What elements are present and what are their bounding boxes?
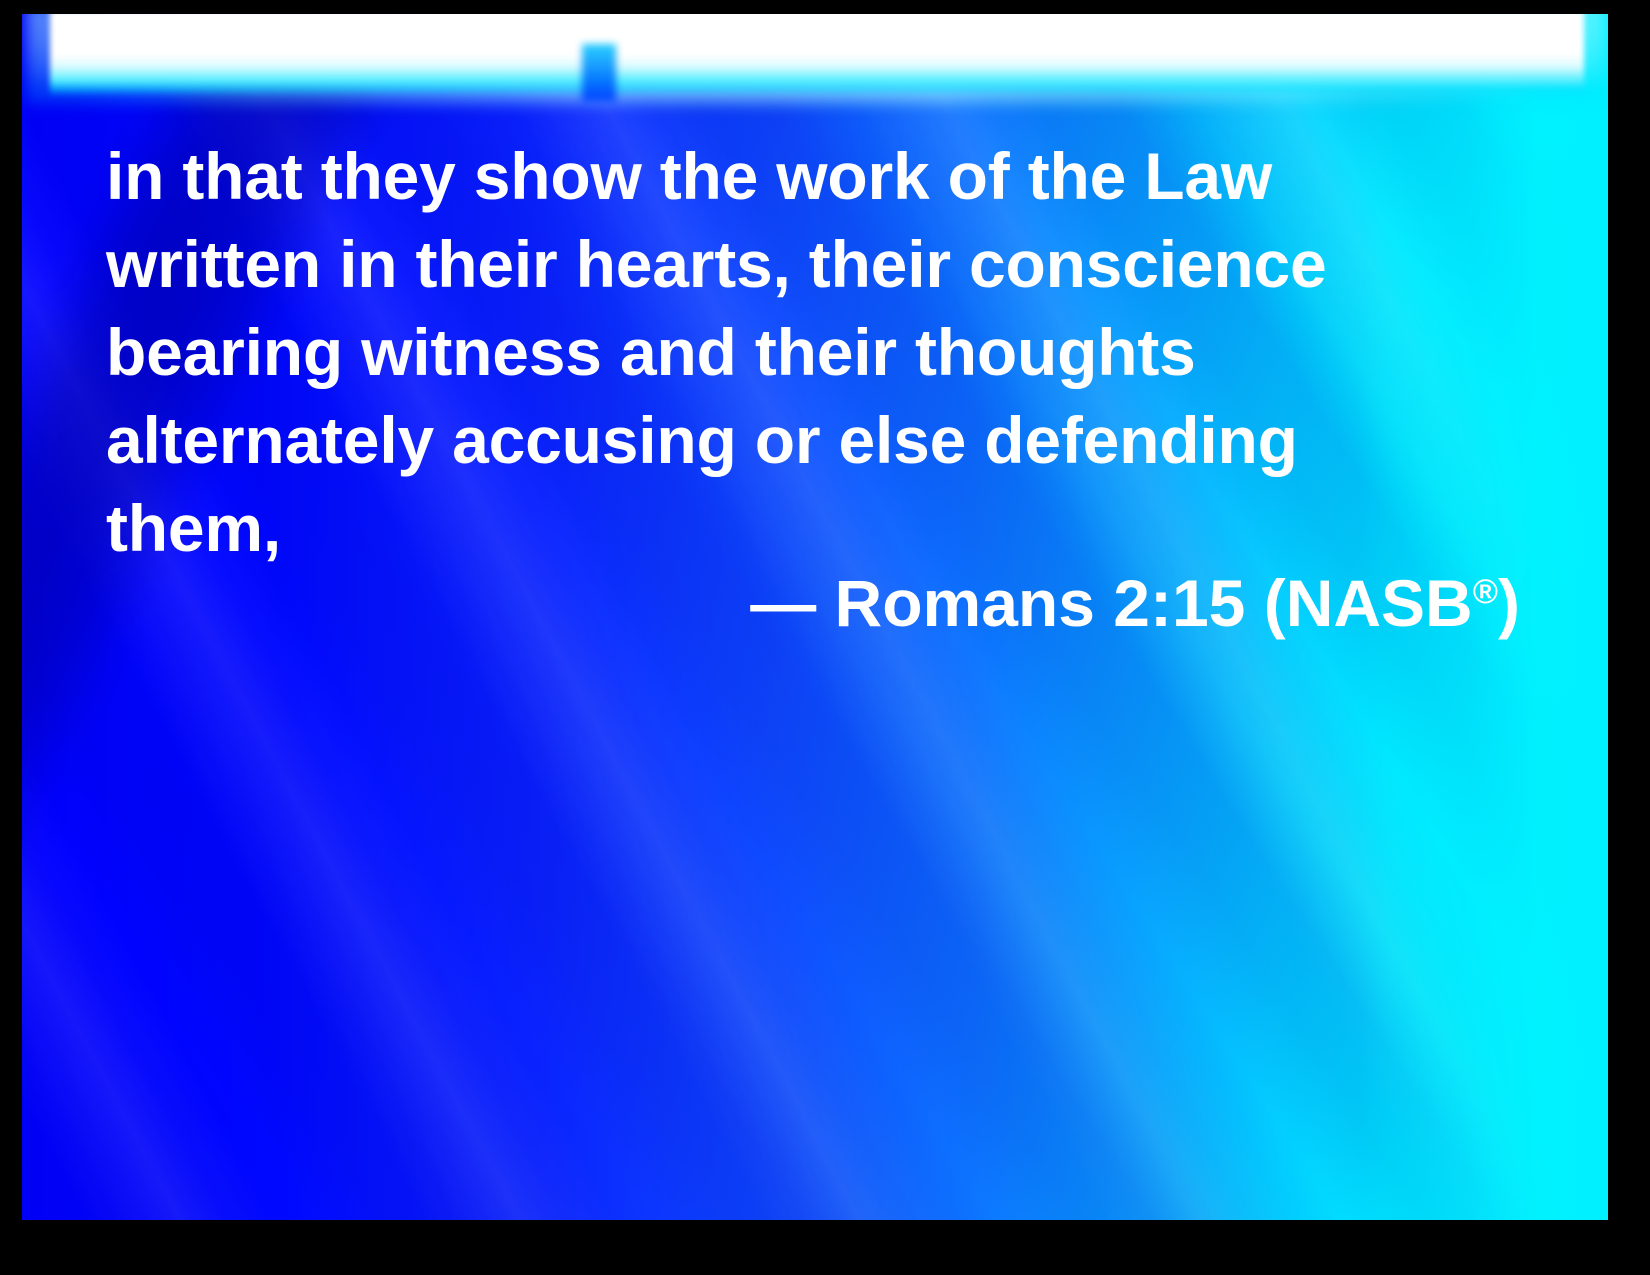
attribution-spacer	[816, 566, 834, 640]
attribution-book: Romans	[835, 566, 1095, 640]
attribution-em-dash: —	[750, 566, 816, 640]
verse-line-4: alternately accusing or else defending	[106, 396, 1536, 484]
verse-text: in that they show the work of the Law wr…	[106, 132, 1536, 572]
verse-slide: in that they show the work of the Law wr…	[0, 0, 1650, 1275]
attribution-chapter-verse: 2:15	[1113, 566, 1245, 640]
attribution-close-paren: )	[1498, 566, 1520, 640]
background-top-glow-band	[50, 14, 1584, 96]
attribution-spacer-2	[1095, 566, 1113, 640]
attribution-translation: NASB	[1286, 566, 1473, 640]
verse-line-1: in that they show the work of the Law	[106, 132, 1536, 220]
verse-line-2: written in their hearts, their conscienc…	[106, 220, 1536, 308]
registered-trademark-icon: ®	[1473, 573, 1498, 611]
slide-canvas: in that they show the work of the Law wr…	[22, 14, 1608, 1220]
background-top-glow-notch	[582, 44, 616, 102]
verse-attribution: — Romans 2:15 (NASB®)	[750, 559, 1520, 647]
verse-line-3: bearing witness and their thoughts	[106, 308, 1536, 396]
attribution-open-paren: (	[1245, 566, 1285, 640]
